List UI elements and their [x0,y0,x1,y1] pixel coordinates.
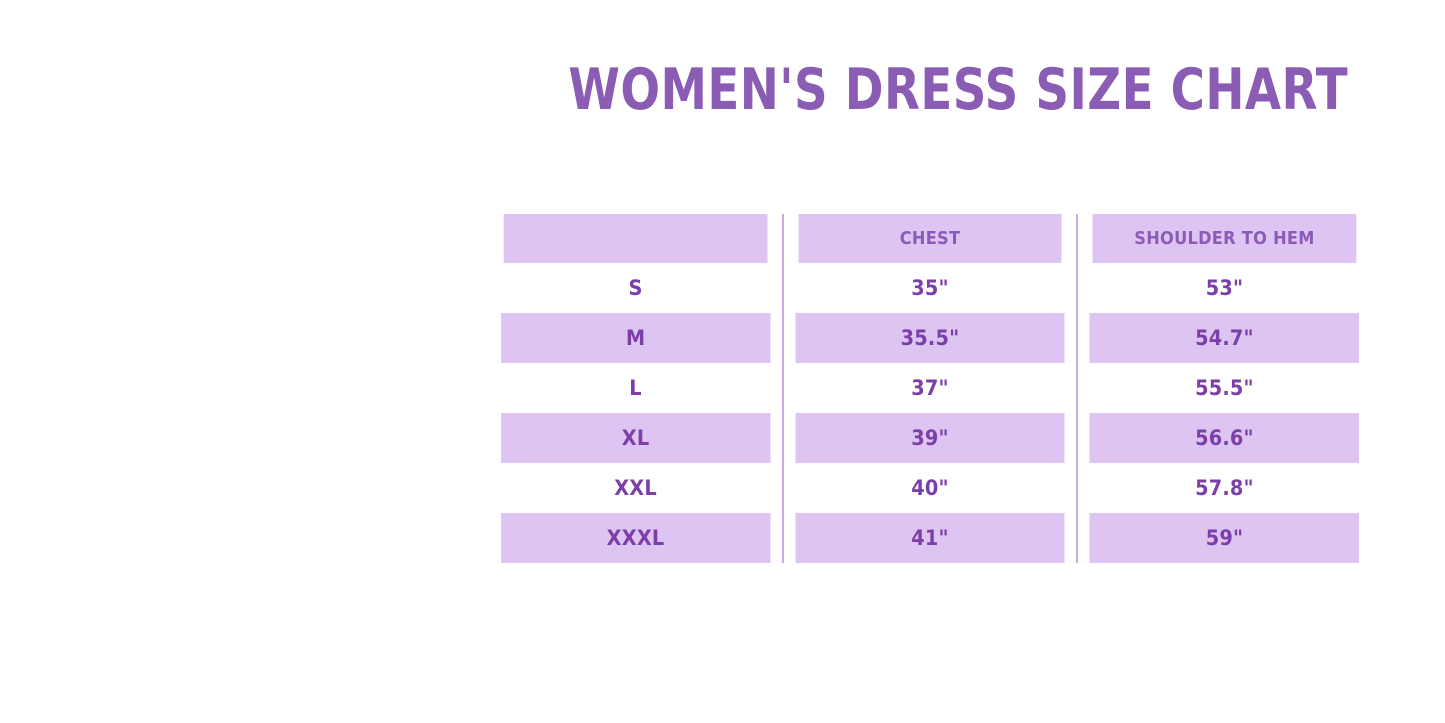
table-body: S 35" 53" M 35.5" 54.7" L 37" 55.5" XL 3… [489,263,1371,563]
cell-chest: 40" [795,463,1065,513]
table-row: XXXL 41" 59" [489,513,1371,563]
table-header: CHEST SHOULDER TO HEM [489,214,1371,263]
cell-chest: 37" [795,363,1065,413]
cell-shoulder-to-hem: 55.5" [1089,363,1359,413]
table-row: S 35" 53" [489,263,1371,313]
table-row: XL 39" 56.6" [489,413,1371,463]
table-header-row: CHEST SHOULDER TO HEM [489,214,1371,263]
table-row: L 37" 55.5" [489,363,1371,413]
cell-chest: 35.5" [795,313,1065,363]
cell-size: L [501,363,771,413]
cell-size: S [501,263,771,313]
cell-chest: 35" [795,263,1065,313]
size-chart-root: WOMEN'S DRESS SIZE CHART CHEST SHOULDER … [0,0,1445,723]
cell-size: XXXL [501,513,771,563]
cell-shoulder-to-hem: 57.8" [1089,463,1359,513]
page-title: WOMEN'S DRESS SIZE CHART [568,55,1291,125]
table-row: M 35.5" 54.7" [489,313,1371,363]
cell-size: XXL [501,463,771,513]
cell-shoulder-to-hem: 59" [1089,513,1359,563]
cell-size: XL [501,413,771,463]
column-header-shoulder-to-hem: SHOULDER TO HEM [1092,214,1357,263]
table-row: XXL 40" 57.8" [489,463,1371,513]
cell-chest: 41" [795,513,1065,563]
cell-shoulder-to-hem: 56.6" [1089,413,1359,463]
cell-chest: 39" [795,413,1065,463]
cell-shoulder-to-hem: 53" [1089,263,1359,313]
cell-size: M [501,313,771,363]
size-chart-table: CHEST SHOULDER TO HEM S 35" 53" M 35.5" … [489,214,1371,563]
column-header-size [504,214,769,263]
cell-shoulder-to-hem: 54.7" [1089,313,1359,363]
column-header-chest: CHEST [798,214,1063,263]
